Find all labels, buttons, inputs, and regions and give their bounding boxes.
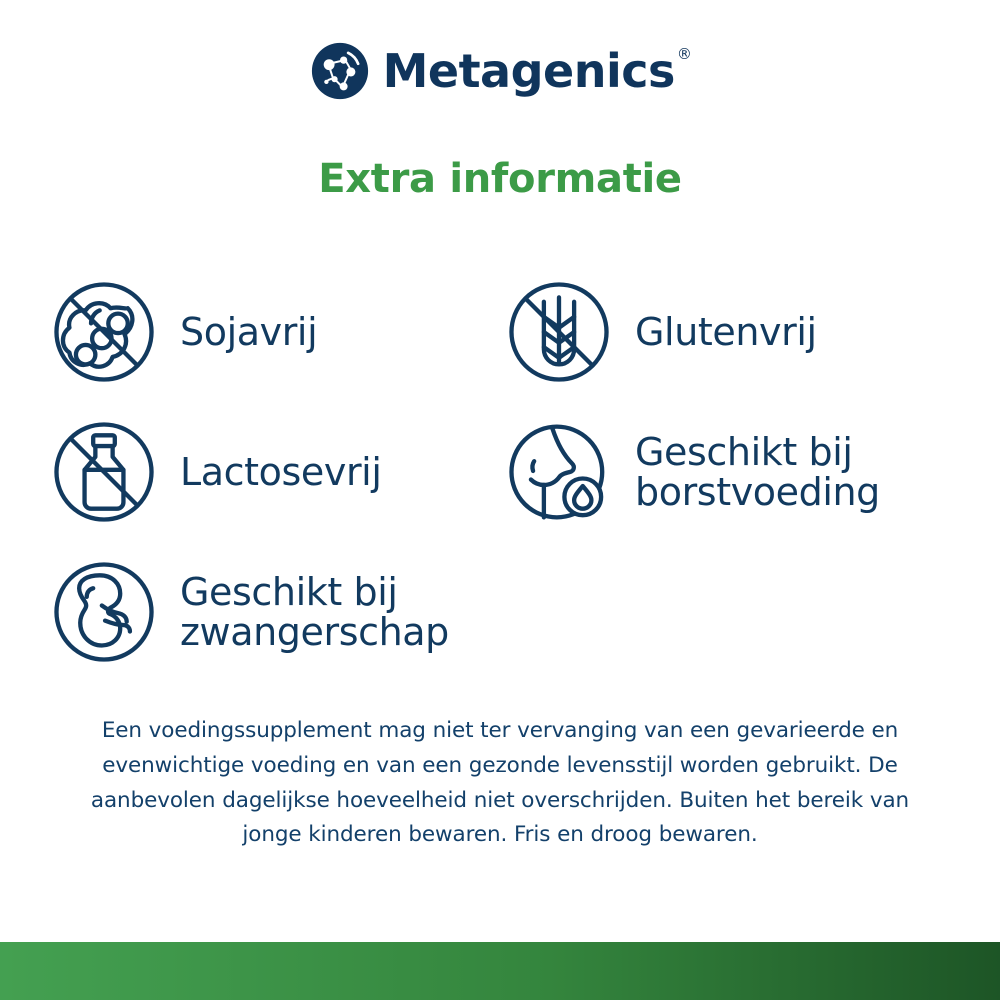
soy-free-icon [50,278,158,386]
feature-label: Sojavrij [180,312,317,352]
feature-item-sojavrij: Sojavrij [50,262,505,402]
feature-item-zwangerschap: Geschikt bij zwangerschap [50,542,505,682]
feature-item-borstvoeding: Geschikt bij borstvoeding [505,402,955,542]
gluten-free-icon [505,278,613,386]
feature-item-glutenvrij: Glutenvrij [505,262,955,402]
brand-wordmark: Metagenics® [383,48,690,94]
page-title: Extra informatie [0,155,1000,203]
feature-label: Geschikt bij zwangerschap [180,572,449,653]
brand-logo: Metagenics® [0,42,1000,100]
feature-label: Glutenvrij [635,312,817,352]
brand-name: Metagenics [383,44,675,98]
feature-label: Lactosevrij [180,452,382,492]
lactose-free-icon [50,418,158,526]
feature-label: Geschikt bij borstvoeding [635,432,880,513]
bottom-accent-bar [0,942,1000,1000]
disclaimer-text: Een voedingssupplement mag niet ter verv… [70,714,930,853]
metagenics-molecule-logo-icon [311,42,369,100]
feature-item-lactosevrij: Lactosevrij [50,402,505,542]
feature-grid: Sojavrij Glutenvrij [50,262,955,682]
registered-trademark-icon: ® [677,45,692,63]
breastfeeding-icon [505,418,613,526]
bottom-bar-gradient [0,942,1000,1000]
pregnancy-fetus-icon [50,558,158,666]
extra-information-panel: Metagenics® Extra informatie Sojavrij [0,0,1000,1000]
